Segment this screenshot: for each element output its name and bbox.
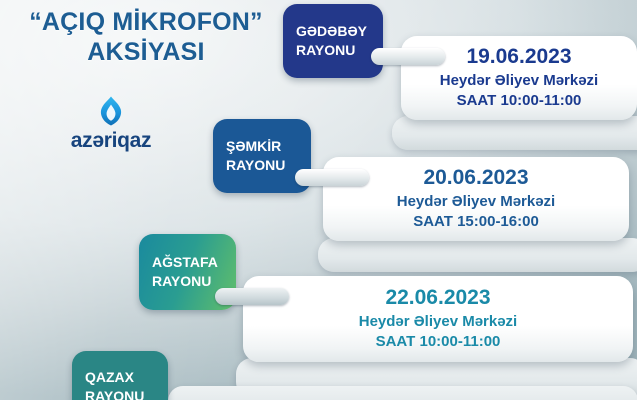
card-stack-ghost: [168, 386, 637, 400]
card-connector: [215, 288, 289, 305]
event-time: SAAT 10:00-11:00: [457, 91, 582, 111]
event-date: 22.06.2023: [385, 286, 490, 311]
district-name-line-2: RAYONU: [85, 388, 156, 400]
event-card: 22.06.2023 Heydər Əliyev Mərkəzi SAAT 10…: [243, 276, 633, 362]
poster-canvas: “AÇIQ MİKROFON” AKSİYASI azəriqaz 19.06.…: [0, 0, 637, 400]
district-name-line-1: AĞSTAFA: [152, 254, 224, 271]
card-stack-ghost: [318, 238, 637, 272]
azeriqaz-logo: azəriqaz: [47, 96, 175, 153]
event-card: 20.06.2023 Heydər Əliyev Mərkəzi SAAT 15…: [323, 157, 629, 241]
event-time: SAAT 15:00-16:00: [413, 212, 539, 232]
card-stack-ghost: [392, 116, 637, 150]
event-venue: Heydər Əliyev Mərkəzi: [397, 192, 555, 212]
card-connector: [295, 169, 369, 186]
district-name-line-2: RAYONU: [296, 42, 371, 59]
page-title: “AÇIQ MİKROFON” AKSİYASI: [12, 8, 280, 66]
flame-icon: [98, 96, 124, 126]
event-date: 19.06.2023: [466, 45, 571, 70]
district-tag-qazax[interactable]: QAZAX RAYONU: [72, 351, 168, 400]
schedule-row: 19.06.2023 Heydər Əliyev Mərkəzi SAAT 10…: [283, 4, 637, 120]
event-time: SAAT 10:00-11:00: [376, 332, 501, 352]
district-name-line-1: GƏDƏBƏY: [296, 23, 371, 40]
card-connector: [371, 48, 445, 65]
azeriqaz-wordmark: azəriqaz: [47, 129, 175, 153]
event-date: 20.06.2023: [423, 166, 528, 191]
title-line-1: “AÇIQ MİKROFON”: [12, 8, 280, 36]
district-tag-gedebey[interactable]: GƏDƏBƏY RAYONU: [283, 4, 383, 78]
district-name-line-2: RAYONU: [152, 273, 224, 290]
district-name-line-1: ŞƏMKİR: [226, 138, 299, 155]
district-name-line-1: QAZAX: [85, 369, 156, 386]
event-venue: Heydər Əliyev Mərkəzi: [440, 71, 598, 91]
title-line-2: AKSİYASI: [12, 38, 280, 66]
district-name-line-2: RAYONU: [226, 157, 299, 174]
event-venue: Heydər Əliyev Mərkəzi: [359, 312, 517, 332]
